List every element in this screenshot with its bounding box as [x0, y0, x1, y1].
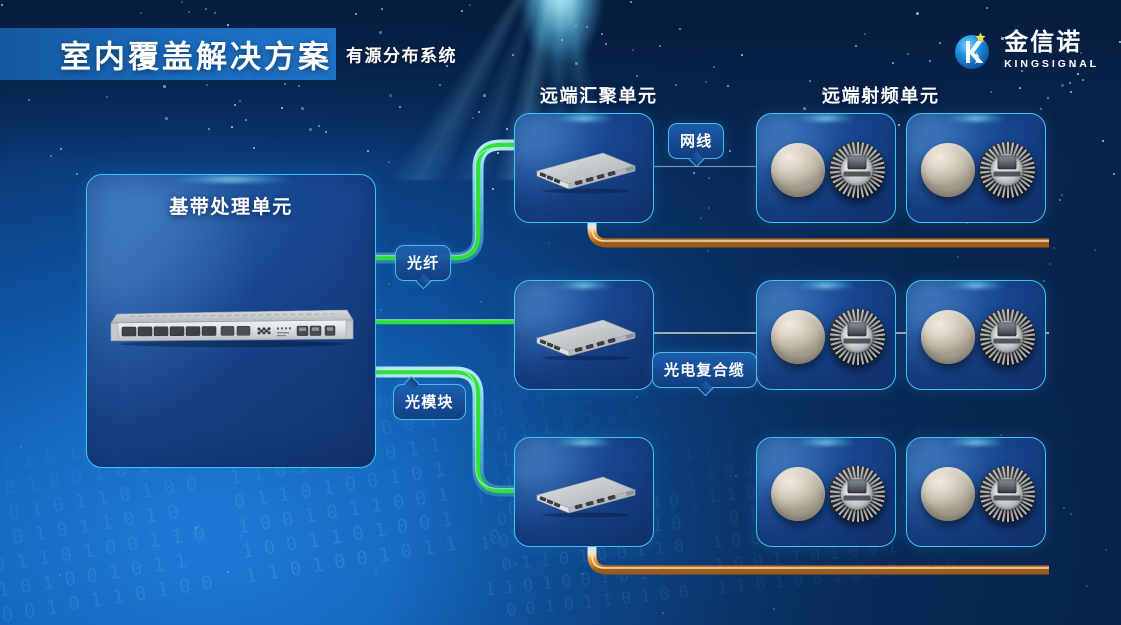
- bbu-panel[interactable]: 基带处理单元: [86, 174, 376, 468]
- rru-panel-1[interactable]: [756, 113, 896, 223]
- heatsink-disc-icon: [979, 309, 1035, 365]
- antenna-disc-icon: [921, 310, 975, 364]
- heatsink-disc-icon: [829, 309, 885, 365]
- cable-label-lan-text: 网线: [680, 133, 712, 150]
- rru-panel-4[interactable]: [906, 280, 1046, 390]
- heatsink-disc-icon: [979, 466, 1035, 522]
- heatsink-disc-icon: [829, 142, 885, 198]
- cable-label-composite-text: 光电复合缆: [664, 362, 745, 379]
- heatsink-disc-icon: [829, 466, 885, 522]
- bbu-label: 基带处理单元: [87, 192, 375, 219]
- logo-name-en: KINGSIGNAL: [1004, 59, 1099, 70]
- brand-logo: 金信诺 KINGSIGNAL: [949, 27, 1099, 73]
- antenna-disc-icon: [921, 143, 975, 197]
- rau-panel-3[interactable]: [514, 437, 654, 547]
- antenna-disc-icon: [771, 467, 825, 521]
- rru-panel-3[interactable]: [756, 280, 896, 390]
- antenna-disc-icon: [921, 467, 975, 521]
- rru-panel-5[interactable]: [756, 437, 896, 547]
- logo-text: 金信诺 KINGSIGNAL: [1004, 31, 1099, 70]
- rau-panel-1[interactable]: [514, 113, 654, 223]
- heatsink-disc-icon: [979, 142, 1035, 198]
- cable-label-optical-module[interactable]: 光模块: [393, 384, 466, 420]
- antenna-disc-icon: [771, 143, 825, 197]
- column-heading-rau: 远端汇聚单元: [540, 82, 658, 108]
- rru-panel-2[interactable]: [906, 113, 1046, 223]
- diagram-canvas: 1001011010 0110100101 1011001011 0110100…: [0, 0, 1121, 625]
- page-title: 室内覆盖解决方案: [60, 32, 332, 77]
- page-subtitle: 有源分布系统: [346, 42, 457, 67]
- cable-label-lan[interactable]: 网线: [668, 123, 724, 159]
- antenna-disc-icon: [771, 310, 825, 364]
- cable-label-fiber-text: 光纤: [407, 255, 439, 272]
- rau-panel-2[interactable]: [514, 280, 654, 390]
- aggregation-unit-icon: [531, 148, 641, 194]
- column-heading-rru: 远端射频单元: [822, 82, 940, 108]
- rack-server-icon: [101, 303, 363, 351]
- cable-label-optical-module-text: 光模块: [405, 394, 454, 411]
- rru-panel-6[interactable]: [906, 437, 1046, 547]
- aggregation-unit-icon: [531, 315, 641, 361]
- aggregation-unit-icon: [531, 472, 641, 518]
- cable-label-composite[interactable]: 光电复合缆: [652, 352, 757, 388]
- cable-label-fiber[interactable]: 光纤: [395, 245, 451, 281]
- logo-name-cn: 金信诺: [1004, 31, 1099, 55]
- logo-emblem-icon: [949, 27, 995, 73]
